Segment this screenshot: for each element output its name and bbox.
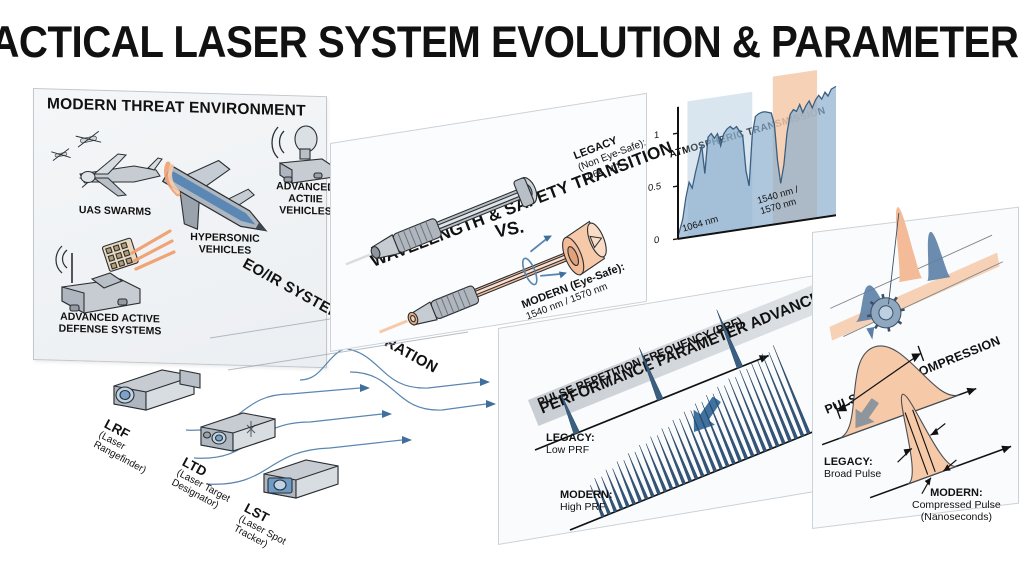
prf-pulse [712,393,742,462]
prf-modern-title: MODERN: [560,489,613,501]
atm-y-tick-0: 0 [654,235,659,247]
prf-pulse [700,402,729,467]
page-title: TACTICAL LASER SYSTEM EVOLUTION & PARAME… [0,18,1024,69]
laser-spot-tracker-icon [258,452,348,510]
prf-pulse [683,411,711,474]
pw-legacy-title: LEGACY: [824,456,873,468]
infographic-canvas: TACTICAL LASER SYSTEM EVOLUTION & PARAME… [0,0,1024,572]
device-label-lrf: LRF (Laser Rangefinder) [92,418,159,476]
pw-modern-value: Compressed Pulse [912,499,1001,511]
atm-chart [650,74,845,258]
pw-modern-label: MODERN: Compressed Pulse (Nanoseconds) [912,487,1001,523]
atm-y-tick-2: 1 [654,129,659,141]
prf-modern-label: MODERN: High PRF [560,489,613,513]
laser-rangefinder-icon [110,362,205,422]
prf-modern-value: High PRF [560,501,606,513]
threat-label-hypersonic: HYPERSONIC VEHICLES [170,230,280,257]
pw-modern-value2: (Nanoseconds) [921,511,992,523]
pw-modern-title: MODERN: [930,487,983,499]
prf-pulse [694,403,723,469]
atm-chart-svg [650,74,845,258]
